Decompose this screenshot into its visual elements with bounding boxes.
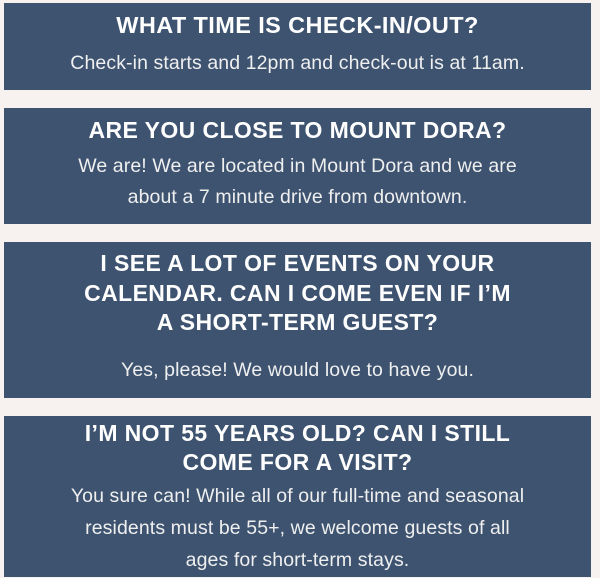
faq-question: I SEE A LOT OF EVENTS ON YOUR CALENDAR. …	[84, 249, 511, 337]
faq-list: WHAT TIME IS CHECK-IN/OUT? Check-in star…	[0, 0, 600, 578]
faq-answer: Yes, please! We would love to have you.	[121, 355, 474, 387]
faq-question: ARE YOU CLOSE TO MOUNT DORA?	[89, 116, 507, 145]
faq-item: WHAT TIME IS CHECK-IN/OUT? Check-in star…	[4, 3, 591, 90]
faq-item: I SEE A LOT OF EVENTS ON YOUR CALENDAR. …	[4, 242, 591, 398]
faq-question: WHAT TIME IS CHECK-IN/OUT?	[116, 11, 478, 41]
faq-answer: You sure can! While all of our full-time…	[71, 481, 524, 576]
faq-answer: We are! We are located in Mount Dora and…	[78, 151, 517, 214]
faq-question: I’M NOT 55 YEARS OLD? CAN I STILL COME F…	[85, 419, 511, 477]
faq-answer: Check-in starts and 12pm and check-out i…	[70, 48, 524, 80]
faq-item: ARE YOU CLOSE TO MOUNT DORA? We are! We …	[4, 108, 591, 224]
faq-item: I’M NOT 55 YEARS OLD? CAN I STILL COME F…	[4, 416, 591, 577]
